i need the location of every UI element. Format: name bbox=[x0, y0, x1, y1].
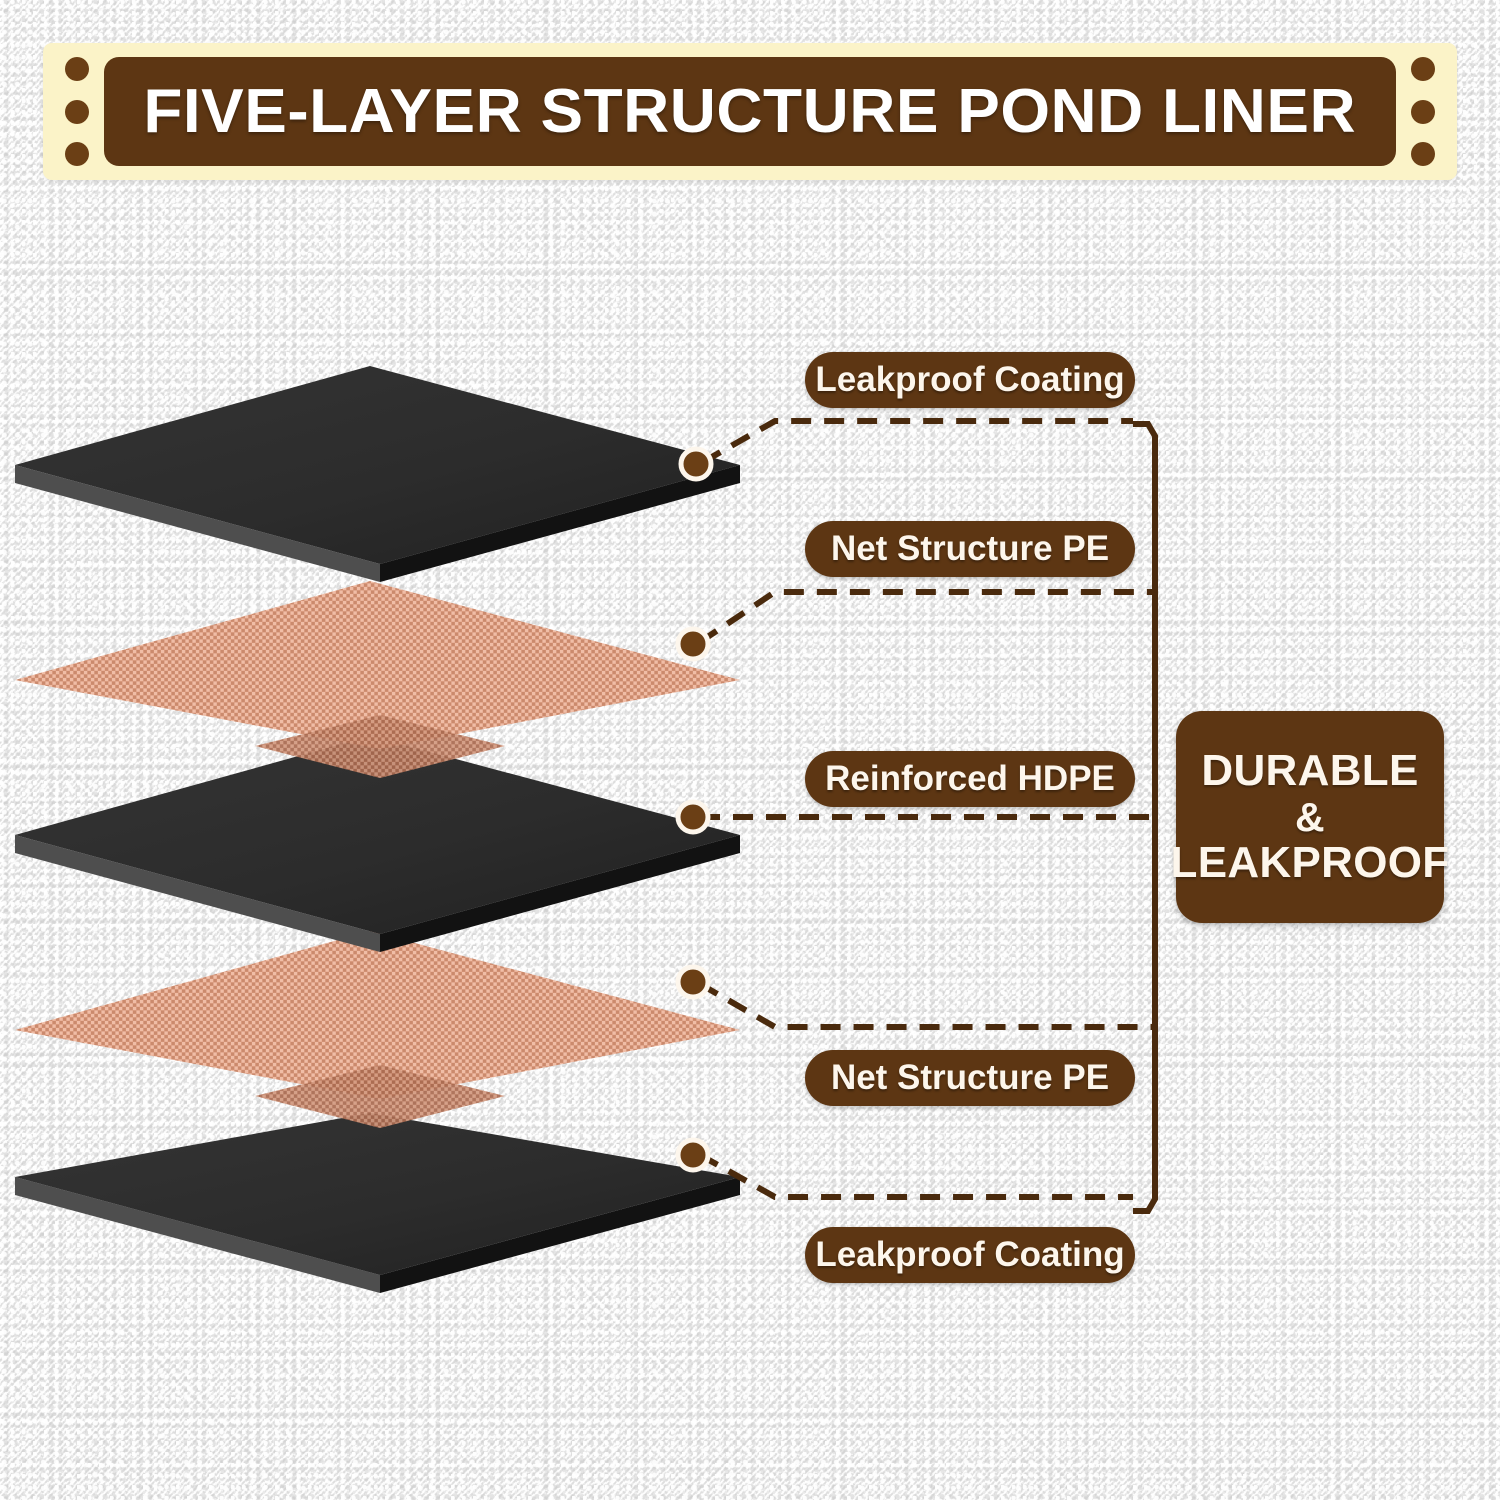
layer-stack-svg bbox=[0, 300, 800, 1310]
banner-dot-icon bbox=[1411, 57, 1435, 81]
label-text: Leakproof Coating bbox=[815, 1235, 1124, 1275]
label-pill-leakproof-coating-top[interactable]: Leakproof Coating bbox=[805, 352, 1135, 408]
callout-line-1: DURABLE bbox=[1201, 747, 1418, 795]
label-pill-net-structure-pe-lower[interactable]: Net Structure PE bbox=[805, 1050, 1135, 1106]
label-text: Reinforced HDPE bbox=[825, 759, 1115, 799]
label-text: Net Structure PE bbox=[831, 529, 1109, 569]
label-text: Leakproof Coating bbox=[815, 360, 1124, 400]
layer-2-net-structure-pe bbox=[15, 581, 740, 778]
banner-dots-left bbox=[61, 57, 93, 166]
banner-dot-icon bbox=[65, 100, 89, 124]
label-text: Net Structure PE bbox=[831, 1058, 1109, 1098]
banner-dots-right bbox=[1407, 57, 1439, 166]
title-banner: FIVE-LAYER STRUCTURE POND LINER bbox=[43, 43, 1457, 180]
callout-line-2: & bbox=[1295, 795, 1325, 839]
durable-leakproof-callout[interactable]: DURABLE & LEAKPROOF bbox=[1176, 711, 1444, 923]
title-plate: FIVE-LAYER STRUCTURE POND LINER bbox=[104, 57, 1396, 166]
label-pill-leakproof-coating-bottom[interactable]: Leakproof Coating bbox=[805, 1227, 1135, 1283]
label-pill-reinforced-hdpe[interactable]: Reinforced HDPE bbox=[805, 751, 1135, 807]
banner-dot-icon bbox=[65, 57, 89, 81]
layer-4-net-structure-pe bbox=[15, 931, 740, 1128]
page-title: FIVE-LAYER STRUCTURE POND LINER bbox=[144, 76, 1357, 147]
layer-5-leakproof-coating bbox=[15, 1113, 740, 1293]
label-pill-net-structure-pe-upper[interactable]: Net Structure PE bbox=[805, 521, 1135, 577]
layer-1-leakproof-coating bbox=[15, 366, 740, 582]
banner-dot-icon bbox=[65, 142, 89, 166]
banner-dot-icon bbox=[1411, 142, 1435, 166]
callout-line-3: LEAKPROOF bbox=[1171, 839, 1450, 887]
banner-dot-icon bbox=[1411, 100, 1435, 124]
layer-stack-diagram bbox=[0, 300, 830, 1310]
